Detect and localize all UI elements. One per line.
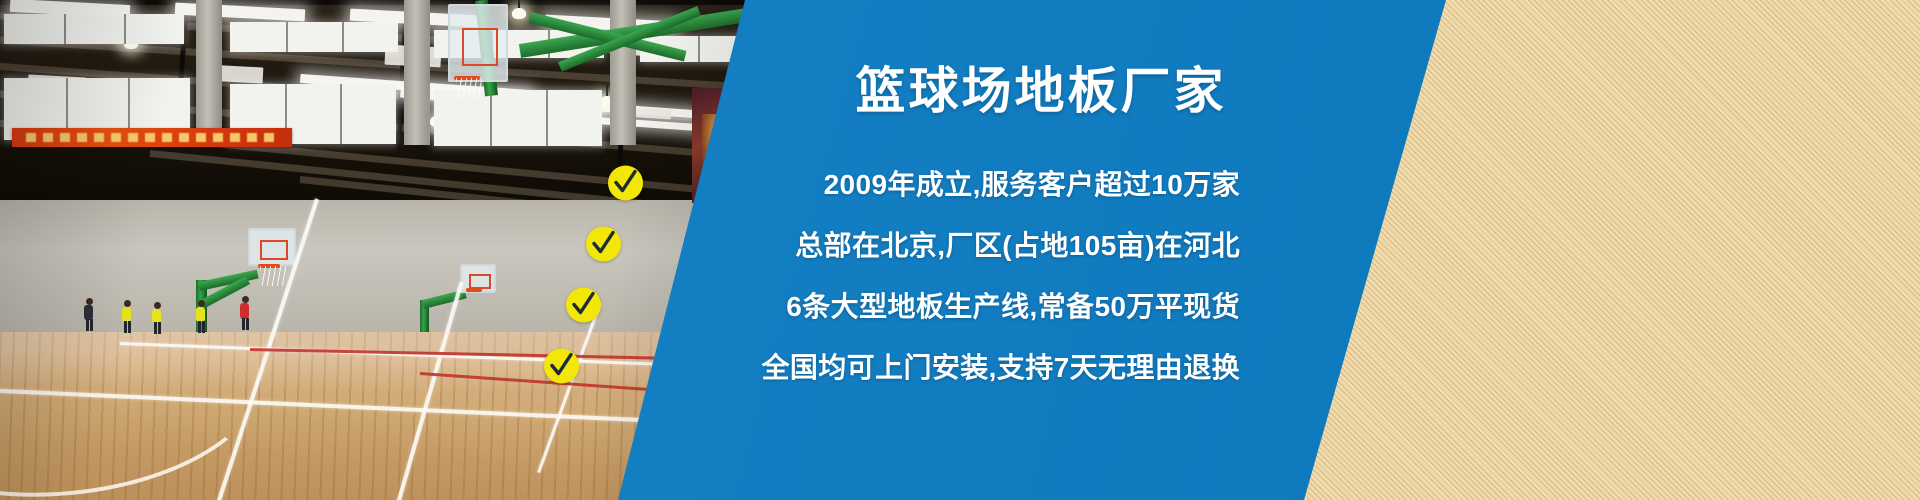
feature-text: 6条大型地板生产线,常备50万平现货: [786, 285, 1240, 325]
page-title: 篮球场地板厂家: [845, 66, 1237, 116]
check-circle-icon: [544, 348, 579, 383]
feature-text: 全国均可上门安装,支持7天无理由退换: [761, 346, 1240, 386]
list-item: 总部在北京,厂区(占地105亩)在河北: [560, 213, 1240, 274]
check-circle-icon: [566, 287, 601, 322]
banner-content: 篮球场地板厂家 2009年成立,服务客户超过10万家 总部在北京,厂区(占地10…: [0, 0, 1920, 500]
list-item: 6条大型地板生产线,常备50万平现货: [560, 274, 1240, 335]
list-item: 2009年成立,服务客户超过10万家: [560, 152, 1240, 213]
feature-text: 2009年成立,服务客户超过10万家: [824, 163, 1240, 203]
promo-banner: 篮球场地板厂家 2009年成立,服务客户超过10万家 总部在北京,厂区(占地10…: [0, 0, 1920, 500]
feature-list: 2009年成立,服务客户超过10万家 总部在北京,厂区(占地105亩)在河北 6…: [560, 152, 1240, 396]
check-circle-icon: [608, 165, 643, 200]
feature-text: 总部在北京,厂区(占地105亩)在河北: [795, 224, 1240, 264]
check-circle-icon: [586, 226, 621, 261]
list-item: 全国均可上门安装,支持7天无理由退换: [560, 335, 1240, 396]
